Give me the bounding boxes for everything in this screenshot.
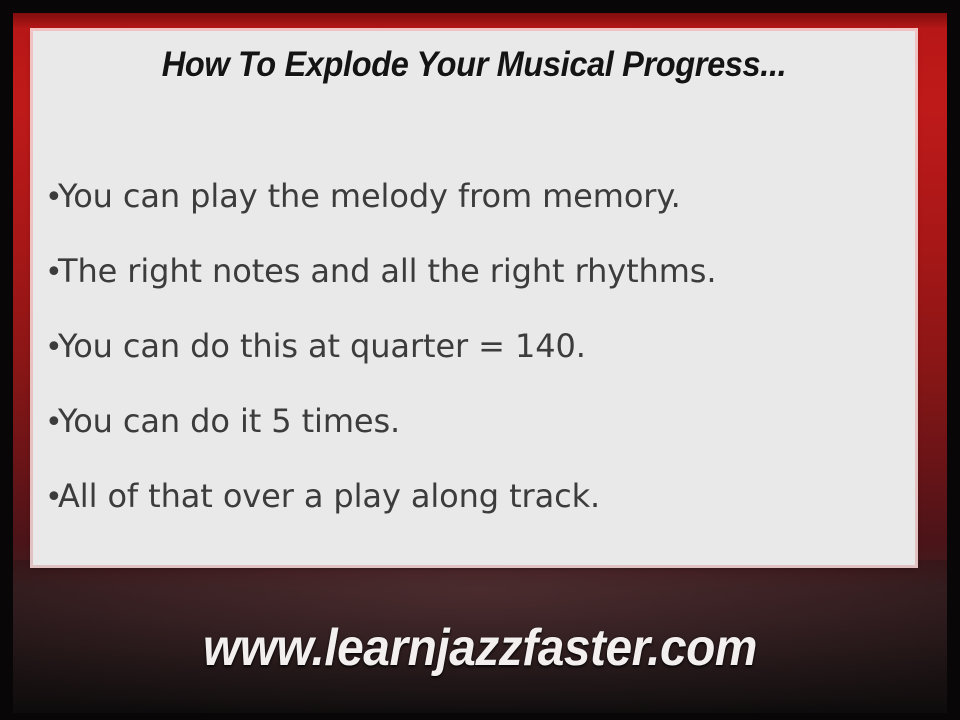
list-item-label: You can play the melody from memory. [58, 159, 681, 234]
bullet-point-icon: • [45, 310, 58, 385]
letterbox-right-edge [947, 0, 960, 720]
list-item: •You can do it 5 times. [45, 384, 905, 459]
list-item: •You can do this at quarter = 140. [45, 309, 905, 384]
bullet-point-icon: • [45, 385, 58, 460]
website-url: www.learnjazzfaster.com [38, 618, 921, 678]
letterbox-left-edge [0, 0, 13, 720]
list-item-label: You can do it 5 times. [58, 384, 400, 459]
list-item: •You can play the melody from memory. [45, 159, 905, 234]
video-slide: How To Explode Your Musical Progress... … [0, 0, 960, 720]
content-card: How To Explode Your Musical Progress... … [33, 31, 915, 565]
bullet-point-icon: • [45, 160, 58, 235]
list-item-label: You can do this at quarter = 140. [58, 309, 586, 384]
bullet-point-icon: • [45, 460, 58, 535]
page-title: How To Explode Your Musical Progress... [64, 45, 884, 85]
list-item-label: The right notes and all the right rhythm… [58, 234, 716, 309]
list-item-label: All of that over a play along track. [58, 459, 600, 534]
list-item: •All of that over a play along track. [45, 459, 905, 534]
list-item: •The right notes and all the right rhyth… [45, 234, 905, 309]
bullet-list: •You can play the melody from memory. •T… [45, 159, 905, 534]
bullet-point-icon: • [45, 235, 58, 310]
letterbox-bottom-edge [0, 713, 960, 720]
letterbox-top-edge [0, 0, 960, 13]
